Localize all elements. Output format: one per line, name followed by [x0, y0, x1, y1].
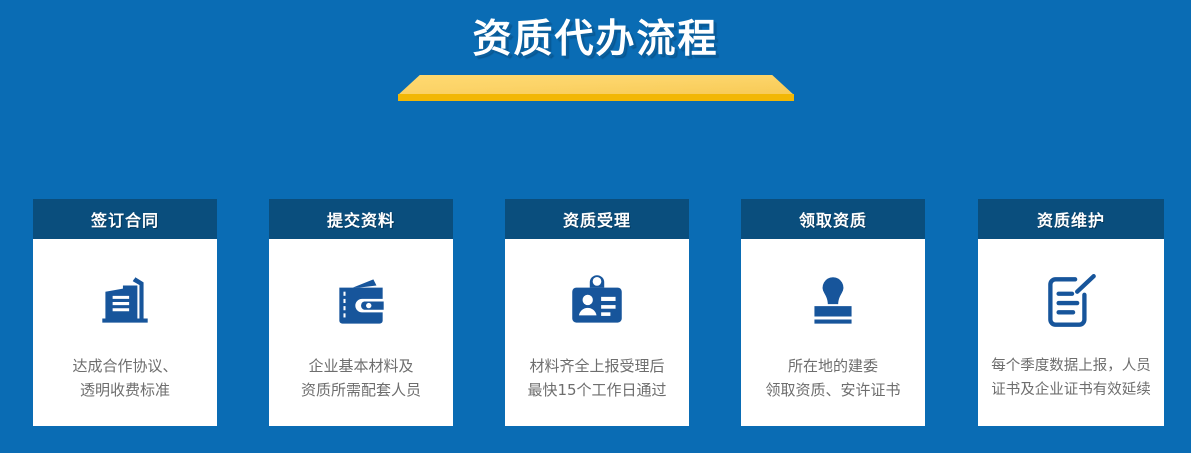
process-step-card[interactable]: 资质维护 每个季度数据上报，人员 证书及企业证书有效延续 [978, 199, 1164, 426]
card-title-3: 资质受理 [505, 199, 689, 239]
process-step-card[interactable]: 提交资料 [269, 199, 453, 426]
card-description-3: 材料齐全上报受理后 最快15个工作日通过 [505, 354, 689, 402]
card-title-5: 资质维护 [978, 199, 1164, 239]
process-step-card[interactable]: 领取资质 所在地的建委 领取资质、安许证书 [741, 199, 925, 426]
card-description-4: 所在地的建委 领取资质、安许证书 [741, 354, 925, 402]
card-description-2: 企业基本材料及 资质所需配套人员 [269, 354, 453, 402]
title-block: 资质代办流程 [0, 0, 1191, 110]
process-steps-row: 签订合同 达成合作协议、 透明收费标准 [0, 199, 1191, 426]
id-badge-icon [564, 269, 630, 335]
card-body-4: 所在地的建委 领取资质、安许证书 [741, 239, 925, 426]
card-title-2: 提交资料 [269, 199, 453, 239]
gold-platform-icon [398, 75, 794, 101]
card-description-5: 每个季度数据上报，人员 证书及企业证书有效延续 [978, 354, 1164, 402]
card-body-5: 每个季度数据上报，人员 证书及企业证书有效延续 [978, 239, 1164, 426]
document-edit-icon [1038, 269, 1104, 335]
platform-front-edge [398, 94, 794, 101]
card-body-1: 达成合作协议、 透明收费标准 [33, 239, 217, 426]
wallet-icon [328, 269, 394, 335]
platform-top-surface [398, 75, 794, 95]
card-description-1: 达成合作协议、 透明收费标准 [33, 354, 217, 402]
card-body-2: 企业基本材料及 资质所需配套人员 [269, 239, 453, 426]
card-title-4: 领取资质 [741, 199, 925, 239]
card-body-3: 材料齐全上报受理后 最快15个工作日通过 [505, 239, 689, 426]
page-title: 资质代办流程 [0, 16, 1191, 64]
process-step-card[interactable]: 签订合同 达成合作协议、 透明收费标准 [33, 199, 217, 426]
card-title-1: 签订合同 [33, 199, 217, 239]
process-step-card[interactable]: 资质受理 材料齐全上报 [505, 199, 689, 426]
building-icon [92, 269, 158, 335]
stamp-icon [800, 269, 866, 335]
